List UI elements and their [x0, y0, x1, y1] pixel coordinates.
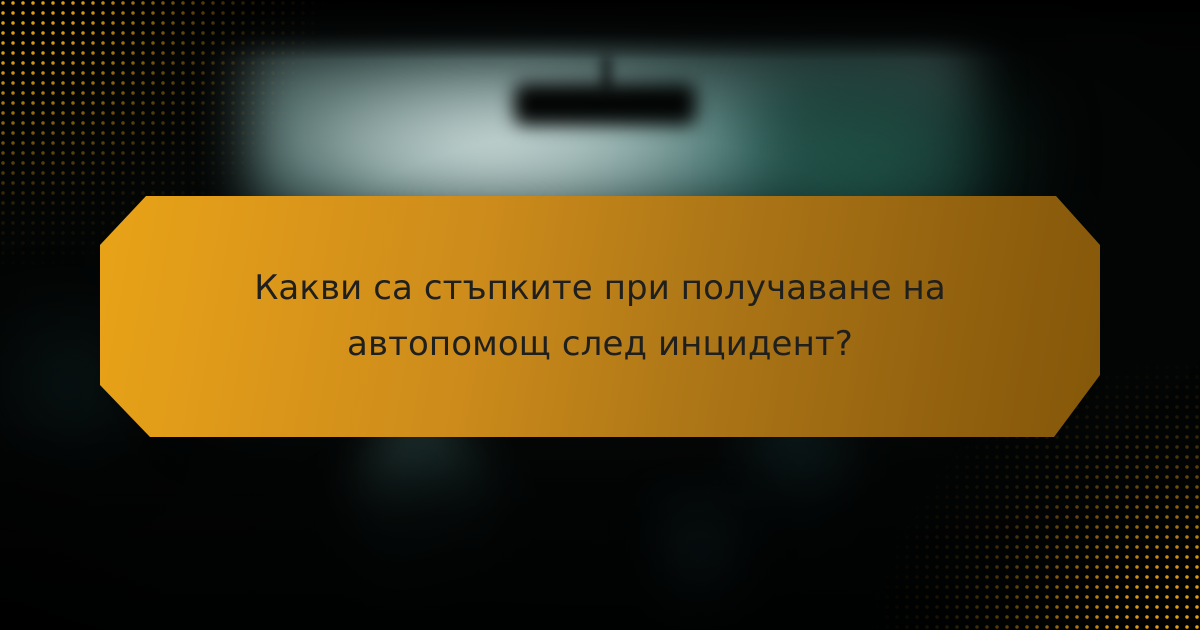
question-text: Какви са стъпките при получаване на авто…: [210, 261, 990, 371]
question-card-canvas: Какви са стъпките при получаване на авто…: [0, 0, 1200, 630]
question-banner: Какви са стъпките при получаване на авто…: [100, 196, 1100, 437]
